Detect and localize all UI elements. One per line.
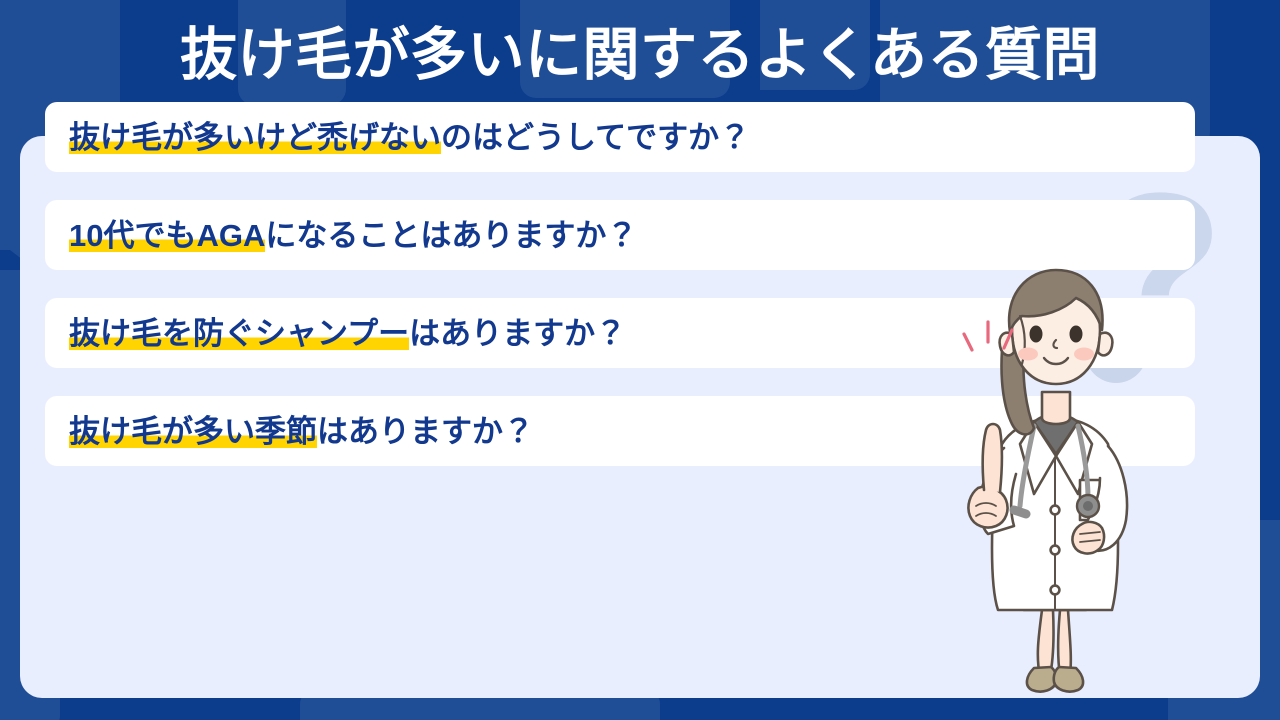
page-title: 抜け毛が多いに関するよくある質問 (0, 26, 1280, 86)
page-title-text: 抜け毛が多いに関するよくある質問 (180, 26, 1100, 86)
faq-rest-4: はありますか？ (317, 414, 534, 449)
faq-highlight-4: 抜け毛が多い季節 (69, 414, 317, 449)
faq-highlight-1: 抜け毛が多いけど禿げない (69, 120, 441, 155)
faq-question-text-1: 抜け毛が多いけど禿げないのはどうしてですか？ (69, 122, 750, 153)
faq-slide: 抜け毛が多いに関するよくある質問 ? 抜け毛が多いけど禿げないのはどうしてですか… (0, 0, 1280, 720)
faq-question-text-3: 抜け毛を防ぐシャンプーはありますか？ (69, 318, 626, 349)
faq-question-text-2: 10代でもAGAになることはありますか？ (69, 220, 637, 251)
faq-rest-3: はありますか？ (409, 316, 626, 351)
female-doctor-illustration (930, 258, 1200, 698)
faq-rest-2: になることはありますか？ (265, 218, 637, 253)
faq-question-text-4: 抜け毛が多い季節はありますか？ (69, 416, 534, 447)
faq-item-1[interactable]: 抜け毛が多いけど禿げないのはどうしてですか？ (45, 102, 1195, 172)
faq-highlight-3: 抜け毛を防ぐシャンプー (69, 316, 409, 351)
faq-highlight-2: 10代でもAGA (69, 218, 265, 253)
faq-rest-1: のはどうしてですか？ (441, 120, 750, 155)
